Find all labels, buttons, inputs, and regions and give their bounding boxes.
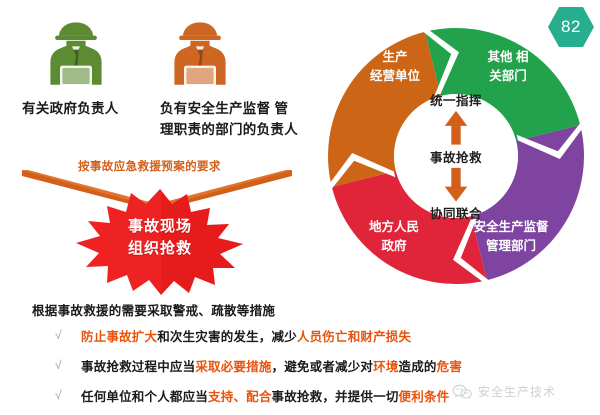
plain-text: 任何单位和个人都应当 [81, 390, 208, 404]
plain-text: 和次生灾害的发生，减少 [157, 330, 297, 344]
worker-hardhat-icon-orange [160, 16, 240, 96]
segment-label-production-unit: 生产 经营单位 [352, 48, 438, 86]
chevron-banner-text: 按事故应急救援预案的要求 [78, 158, 221, 174]
watermark: 安全生产技术 [452, 383, 556, 400]
highlight-text: 人员伤亡和财产损失 [297, 330, 411, 344]
slide-canvas: 82 有关政府负责人 [0, 0, 600, 415]
highlight-text: 防止事故扩大 [81, 330, 157, 344]
segment-label-safety-supervision: 安全生产监督 管理部门 [460, 218, 562, 256]
plain-text: 造成的 [399, 360, 437, 374]
arrow-up-icon [322, 109, 590, 147]
watermark-text: 安全生产技术 [478, 383, 556, 400]
starburst-text: 事故现场 组织抢救 [75, 216, 245, 260]
center-text-top: 统一指挥 [430, 90, 482, 109]
bullet-text-2: 任何单位和个人都应当支持、配合事故抢救，并提供一切便利条件 [81, 386, 449, 405]
highlight-text: 环境 [373, 360, 398, 374]
highlight-text: 便利条件 [399, 390, 450, 404]
highlight-text: 支持、配合 [208, 390, 272, 404]
lead-statement: 根据事故救援的需要采取警戒、疏散等措施 [32, 300, 275, 319]
rescue-cycle-diagram: 生产 经营单位 其他 相 关部门 安全生产监督 管理部门 地方人民 政府 统一指… [322, 22, 590, 290]
bullet-item-1: √ 事故抢救过程中应当采取必要措施，避免或者减少对环境造成的危害 [55, 354, 462, 376]
wechat-icon [452, 384, 472, 400]
worker-label-supervision: 负有安全生产监督 管 理职责的部门的负责人 [160, 98, 310, 140]
check-icon: √ [55, 358, 81, 372]
segment-label-local-government: 地方人民 政府 [350, 218, 438, 256]
page-number: 82 [561, 17, 581, 37]
bullet-text-0: 防止事故扩大和次生灾害的发生，减少人员伤亡和财产损失 [81, 326, 411, 345]
arrow-down-icon [322, 166, 590, 204]
starburst-callout: 事故现场 组织抢救 [75, 188, 245, 296]
worker-label-government: 有关政府负责人 [22, 98, 157, 119]
diagram-center: 统一指挥 事故抢救 协同联合 [395, 90, 517, 222]
plain-text: 事故抢救，并提供一切 [272, 390, 399, 404]
highlight-text: 危害 [437, 360, 462, 374]
plain-text: ，避免或者减少对 [272, 360, 374, 374]
highlight-text: 采取必要措施 [195, 360, 271, 374]
center-text-middle: 事故抢救 [430, 147, 482, 166]
check-icon: √ [55, 328, 81, 342]
bullet-item-2: √ 任何单位和个人都应当支持、配合事故抢救，并提供一切便利条件 [55, 384, 449, 406]
bullet-text-1: 事故抢救过程中应当采取必要措施，避免或者减少对环境造成的危害 [81, 356, 462, 375]
check-icon: √ [55, 388, 81, 402]
segment-label-other-departments: 其他 相 关部门 [462, 48, 554, 86]
center-text-bottom: 协同联合 [430, 203, 482, 222]
plain-text: 事故抢救过程中应当 [81, 360, 195, 374]
worker-hardhat-icon-green [36, 16, 116, 96]
bullet-item-0: √ 防止事故扩大和次生灾害的发生，减少人员伤亡和财产损失 [55, 324, 411, 346]
